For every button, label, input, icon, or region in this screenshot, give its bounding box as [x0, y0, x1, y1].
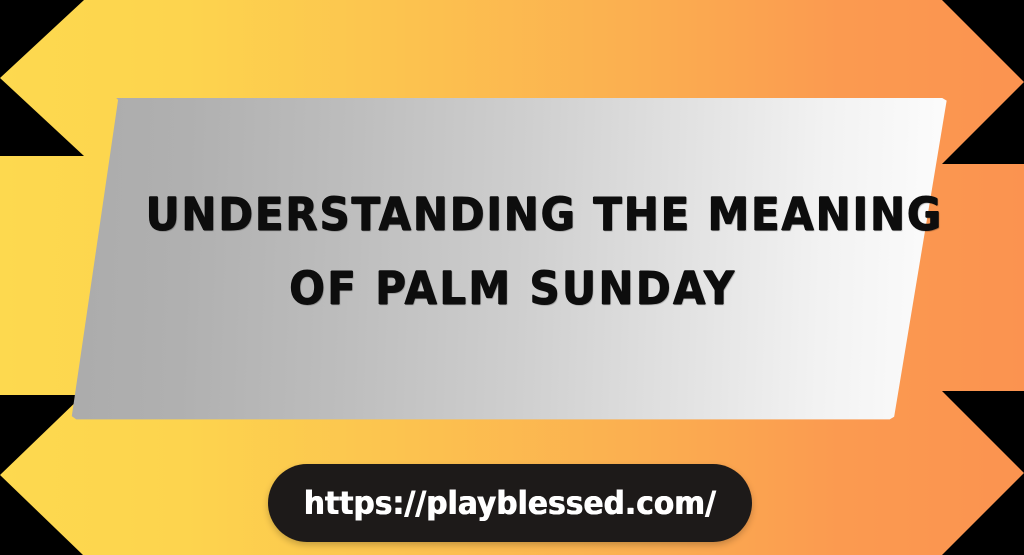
url-label: https://playblessed.com/: [304, 484, 716, 522]
corner-triangle-top-right-icon: [942, 0, 1024, 164]
title-card-panel: [62, 96, 952, 424]
corner-triangle-bottom-left-icon: [0, 395, 83, 555]
corner-triangle-bottom-right-icon: [942, 391, 1024, 555]
title-card-surface: [62, 96, 952, 424]
corner-triangle-top-left-icon: [0, 0, 84, 156]
poster-canvas: UNDERSTANDING THE MEANING OF PALM SUNDAY…: [0, 0, 1024, 555]
url-badge[interactable]: https://playblessed.com/: [268, 464, 752, 542]
